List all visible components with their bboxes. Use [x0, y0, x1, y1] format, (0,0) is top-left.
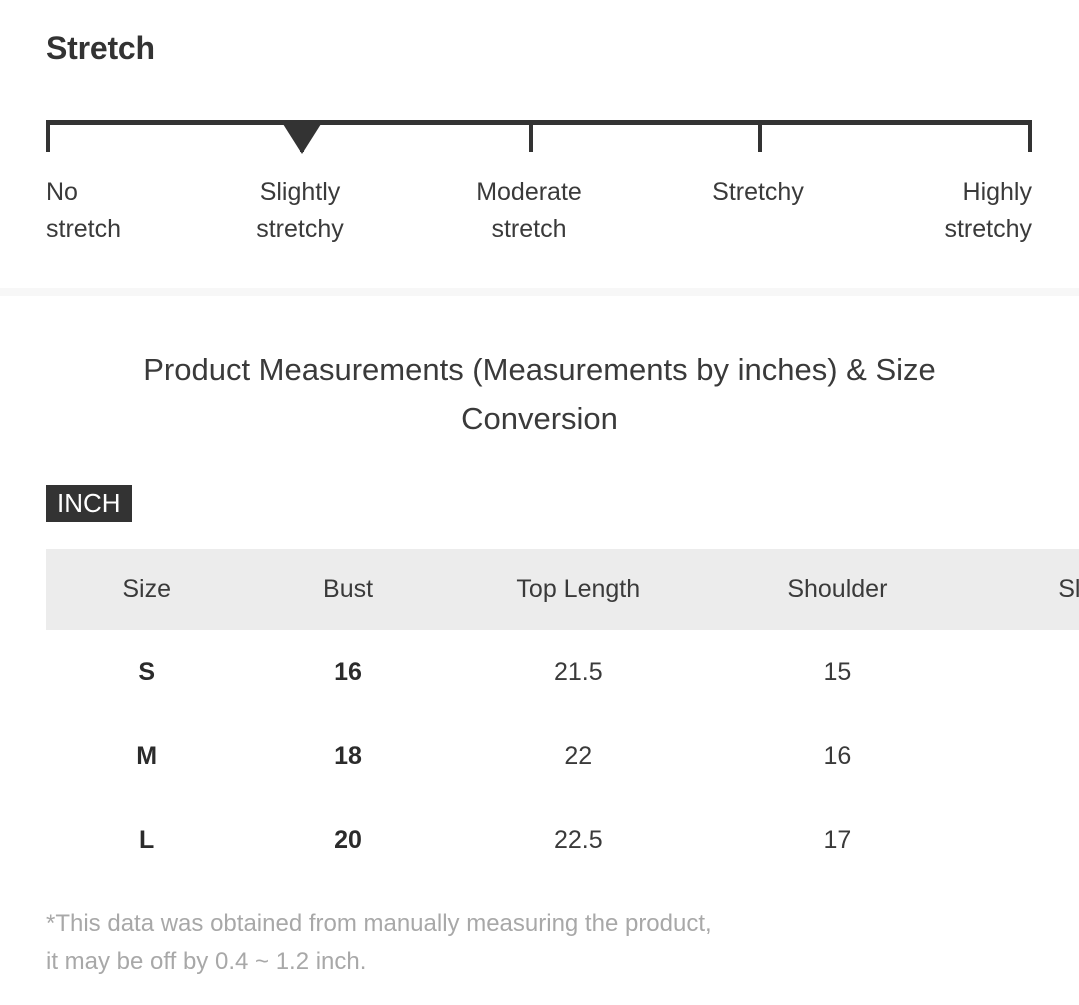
- cell-size: S: [46, 630, 247, 714]
- cell-shoulder: 16: [708, 714, 967, 798]
- cell-top-length: 21.5: [449, 630, 708, 714]
- cell-bust: 20: [247, 798, 448, 882]
- scale-label-highly-stretchy: Highly stretchy: [944, 174, 1032, 248]
- table-row: S 16 21.5 15 4: [46, 630, 1079, 714]
- scale-tick-3: [758, 120, 762, 152]
- cell-sleeve: [967, 714, 1079, 798]
- cell-top-length: 22: [449, 714, 708, 798]
- table-row: M 18 22 16: [46, 714, 1079, 798]
- size-table-container: Size Bust Top Length Shoulder Sleeve S 1…: [46, 549, 1079, 882]
- cell-bust: 18: [247, 714, 448, 798]
- stretch-scale: [46, 120, 1032, 160]
- cell-top-length: 22.5: [449, 798, 708, 882]
- size-chart-table: Size Bust Top Length Shoulder Sleeve S 1…: [46, 549, 1079, 882]
- column-header-sleeve: Sleeve: [967, 549, 1079, 630]
- measurements-heading: Product Measurements (Measurements by in…: [0, 345, 1079, 443]
- scale-tick-4: [1028, 120, 1032, 152]
- scale-tick-0: [46, 120, 50, 152]
- column-header-top-length: Top Length: [449, 549, 708, 630]
- unit-badge-inch: INCH: [46, 485, 132, 522]
- cell-sleeve: 4: [967, 630, 1079, 714]
- column-header-shoulder: Shoulder: [708, 549, 967, 630]
- cell-shoulder: 15: [708, 630, 967, 714]
- scale-tick-2: [529, 120, 533, 152]
- cell-bust: 16: [247, 630, 448, 714]
- stretch-heading: Stretch: [46, 30, 155, 67]
- section-divider: [0, 288, 1079, 296]
- cell-shoulder: 17: [708, 798, 967, 882]
- scale-label-stretchy: Stretchy: [676, 174, 840, 211]
- stretch-scale-labels: No stretch Slightly stretchy Moderate st…: [46, 174, 1032, 244]
- stretch-selected-marker-icon: [283, 124, 321, 154]
- scale-label-slightly-stretchy: Slightly stretchy: [218, 174, 382, 248]
- column-header-bust: Bust: [247, 549, 448, 630]
- table-row: L 20 22.5 17 5: [46, 798, 1079, 882]
- table-header-row: Size Bust Top Length Shoulder Sleeve: [46, 549, 1079, 630]
- cell-size: L: [46, 798, 247, 882]
- cell-sleeve: 5: [967, 798, 1079, 882]
- measurement-disclaimer-note: *This data was obtained from manually me…: [46, 905, 1026, 981]
- scale-bar: [46, 120, 1032, 125]
- column-header-size: Size: [46, 549, 247, 630]
- scale-label-no-stretch: No stretch: [46, 174, 121, 248]
- scale-label-moderate-stretch: Moderate stretch: [447, 174, 611, 248]
- cell-size: M: [46, 714, 247, 798]
